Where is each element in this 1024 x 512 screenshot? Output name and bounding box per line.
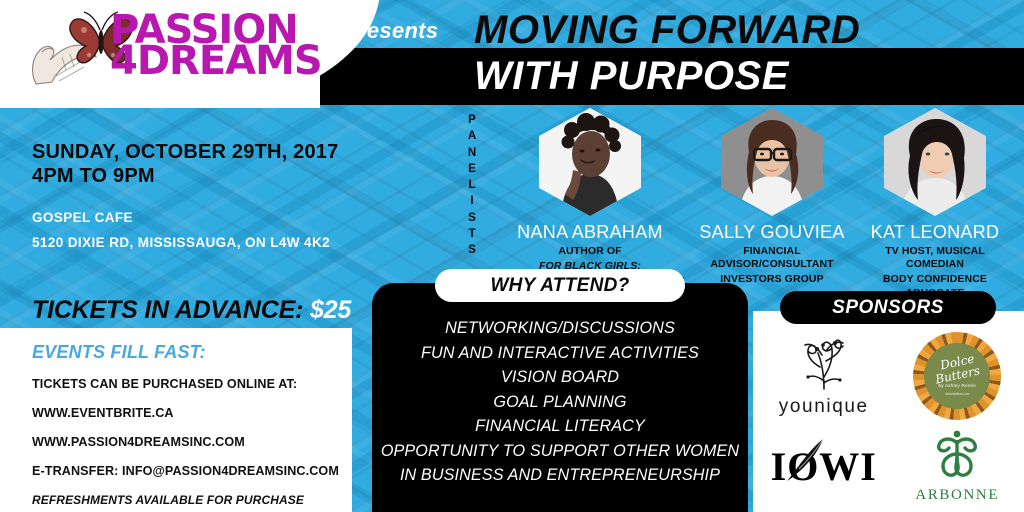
event-time: 4PM TO 9PM: [32, 165, 155, 187]
brand-logo[interactable]: PASSION 4DREAMS: [26, 6, 276, 98]
panelists-letter: E: [463, 161, 481, 177]
arbonne-wordmark: ARBONNE: [915, 487, 999, 504]
portrait-nana-abraham: [539, 108, 641, 216]
why-attend-item: GOAL PLANNING: [372, 390, 748, 415]
event-address: 5120 DIXIE RD, MISSISSAUGA, ON L4W 4K2: [32, 235, 330, 250]
events-fill-fast-heading: EVENTS FILL FAST:: [32, 342, 350, 363]
why-attend-list: NETWORKING/DISCUSSIONS FUN AND INTERACTI…: [372, 316, 748, 488]
why-attend-item: NETWORKING/DISCUSSIONS: [372, 316, 748, 341]
event-details: SUNDAY, OCTOBER 29TH, 2017 4PM TO 9PM GO…: [32, 140, 362, 358]
sponsors-heading: SPONSORS: [832, 297, 944, 319]
event-title-line-1: MOVING FORWARD: [474, 8, 860, 53]
younique-wordmark: younique: [779, 396, 869, 418]
why-attend-item: IN BUSINESS AND ENTREPRENEURSHIP: [372, 463, 748, 488]
panelist-role-line-1: AUTHOR OF: [494, 245, 686, 258]
portrait-sally-gouviea: [721, 108, 823, 216]
panelists-letter: T: [463, 226, 481, 242]
refreshments-note: REFRESHMENTS AVAILABLE FOR PURCHASE: [32, 493, 350, 507]
ticket-info-panel: EVENTS FILL FAST: TICKETS CAN BE PURCHAS…: [0, 328, 352, 512]
sponsors-grid: younique Dolce Butters by Ashley Renée d…: [757, 330, 1024, 512]
etransfer-email[interactable]: E-TRANSFER: INFO@PASSION4DREAMSINC.COM: [32, 464, 350, 478]
panelist-name: NANA ABRAHAM: [494, 222, 686, 243]
why-attend-item: FUN AND INTERACTIVE ACTIVITIES: [372, 341, 748, 366]
quill-pen-icon: [779, 437, 831, 483]
panelist-name: KAT LEONARD: [855, 222, 1015, 243]
panelists-letter: L: [463, 177, 481, 193]
panelist-card-kat-leonard: KAT LEONARD TV HOST, MUSICAL COMEDIAN BO…: [855, 108, 1015, 300]
panelists-vertical-label: P A N E L I S T S: [463, 112, 481, 259]
dolce-line-3: by Ashley Renée: [939, 383, 976, 388]
tickets-advance-label: TICKETS IN ADVANCE:: [32, 296, 303, 324]
event-date: SUNDAY, OCTOBER 29TH, 2017: [32, 141, 338, 163]
panelist-card-nana-abraham: NANA ABRAHAM AUTHOR OF FOR BLACK GIRLS: …: [494, 108, 686, 289]
sponsor-logo-dolce-butters[interactable]: Dolce Butters by Ashley Renée dolcebutte…: [891, 330, 1024, 421]
event-venue-block: GOSPEL CAFE 5120 DIXIE RD, MISSISSAUGA, …: [32, 205, 362, 256]
panelist-card-sally-gouviea: SALLY GOUVIEA FINANCIAL ADVISOR/CONSULTA…: [692, 108, 852, 287]
event-date-time: SUNDAY, OCTOBER 29TH, 2017 4PM TO 9PM: [32, 140, 362, 189]
brand-line-2: 4DREAMS: [110, 45, 290, 78]
presents-label: Presents: [343, 18, 438, 44]
portrait-kat-leonard: [884, 108, 986, 216]
why-attend-heading-pill: WHY ATTEND?: [435, 269, 685, 302]
sponsor-logo-arbonne[interactable]: ARBONNE: [891, 421, 1024, 512]
dolce-line-4: dolcebutters.com: [945, 392, 969, 396]
panelists-letter: A: [463, 128, 481, 144]
purchase-instruction: TICKETS CAN BE PURCHASED ONLINE AT:: [32, 377, 350, 391]
link-eventbrite[interactable]: WWW.EVENTBRITE.CA: [32, 406, 350, 420]
tickets-advance-price: $25: [310, 296, 351, 324]
why-attend-item: OPPORTUNITY TO SUPPORT OTHER WOMEN: [372, 439, 748, 464]
panelists-letter: N: [463, 145, 481, 161]
why-attend-item: FINANCIAL LITERACY: [372, 414, 748, 439]
panelist-role-line-1: FINANCIAL ADVISOR/CONSULTANT: [692, 245, 852, 271]
panelists-letter: I: [463, 193, 481, 209]
why-attend-item: VISION BOARD: [372, 365, 748, 390]
panelist-name: SALLY GOUVIEA: [692, 222, 852, 243]
sponsor-logo-iowi[interactable]: IOWI: [757, 421, 891, 512]
event-title-line-2: WITH PURPOSE: [474, 54, 789, 99]
panelists-letter: S: [463, 242, 481, 258]
brand-wordmark: PASSION 4DREAMS: [110, 14, 290, 78]
event-flyer: PASSION 4DREAMS Presents MOVING FORWARD …: [0, 0, 1024, 512]
sponsor-logo-younique[interactable]: younique: [757, 330, 891, 421]
why-attend-heading: WHY ATTEND?: [490, 275, 629, 297]
panelist-role-line-1: TV HOST, MUSICAL COMEDIAN: [855, 245, 1015, 271]
link-passion4dreams[interactable]: WWW.PASSION4DREAMSINC.COM: [32, 435, 350, 449]
panelists-letter: P: [463, 112, 481, 128]
event-venue: GOSPEL CAFE: [32, 210, 133, 225]
floral-flourish-icon: [793, 333, 855, 391]
arbonne-mark-icon: [929, 430, 985, 484]
panelists-letter: S: [463, 210, 481, 226]
sponsors-heading-pill: SPONSORS: [780, 291, 996, 324]
